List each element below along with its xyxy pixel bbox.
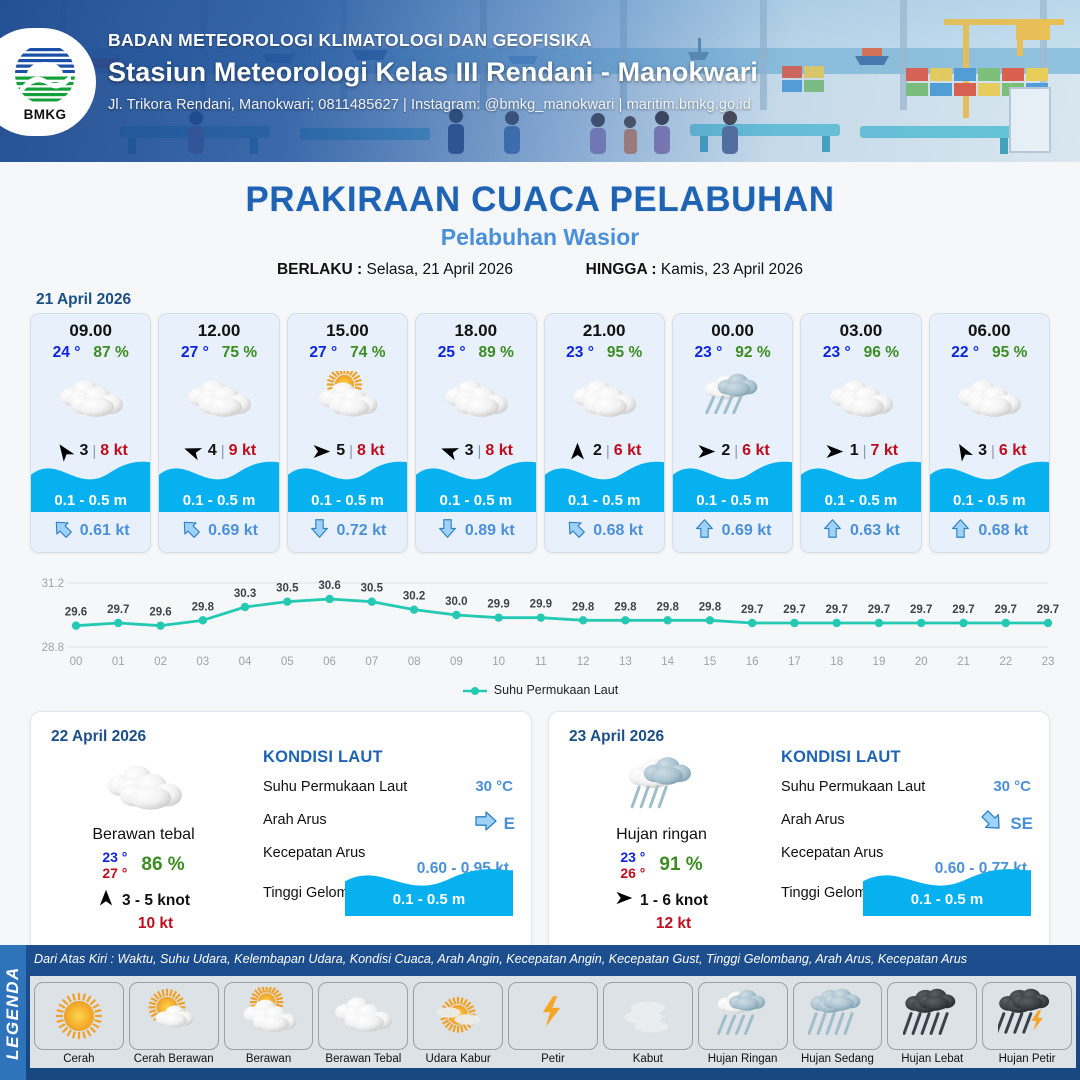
legend-strip-label: LEGENDA — [3, 966, 23, 1060]
card-humidity: 75 % — [222, 344, 257, 362]
legend-item-label: Hujan Petir — [982, 1053, 1072, 1065]
berawan-tebal-icon — [31, 366, 150, 428]
svg-text:19: 19 — [873, 656, 886, 668]
current-arrow-nw — [565, 518, 586, 544]
page-title: PRAKIRAAN CUACA PELABUHAN — [0, 180, 1080, 220]
legend-item-label: Berawan Tebal — [318, 1053, 408, 1065]
panel-sea-title: KONDISI LAUT — [781, 748, 1035, 767]
panel-sst-value: 30 °C — [475, 778, 513, 795]
current-arrow-n — [950, 518, 971, 544]
berawan-tebal-icon — [416, 366, 535, 428]
svg-text:29.8: 29.8 — [192, 601, 215, 613]
card-wave-height: 0.1 - 0.5 m — [159, 492, 278, 509]
legend-item: Berawan Tebal — [318, 982, 408, 1065]
berawan-tebal-icon — [31, 752, 256, 822]
svg-text:06: 06 — [323, 656, 336, 668]
legend-item: Hujan Sedang — [793, 982, 883, 1065]
card-time: 15.00 — [288, 321, 407, 341]
card-temperature: 23 ° — [823, 344, 851, 362]
panel-gust-speed: 12 kt — [573, 915, 774, 933]
valid-to-label: HINGGA : — [586, 261, 657, 278]
cerah-berawan-icon — [129, 982, 219, 1050]
card-humidity: 74 % — [350, 344, 385, 362]
station-name: Stasiun Meteorologi Kelas III Rendani - … — [108, 57, 758, 88]
panel-wave-graphic: 0.1 - 0.5 m — [345, 860, 513, 916]
svg-text:30.3: 30.3 — [234, 588, 256, 600]
legend-item: Hujan Lebat — [887, 982, 977, 1065]
forecast-card[interactable]: 03.00 23 ° 96 % — [800, 313, 921, 553]
panel-sst-label: Suhu Permukaan Laut — [263, 779, 407, 795]
forecast-cards: 09.00 24 ° 87 % — [0, 313, 1080, 553]
legend-item-label: Hujan Lebat — [887, 1053, 977, 1065]
forecast-card[interactable]: 12.00 27 ° 75 % — [158, 313, 279, 553]
legend-item: Udara Kabur — [413, 982, 503, 1065]
svg-text:17: 17 — [788, 656, 801, 668]
hujan-petir-icon — [982, 982, 1072, 1050]
udara-kabur-icon — [413, 982, 503, 1050]
svg-text:29.7: 29.7 — [1037, 604, 1059, 616]
card-humidity: 96 % — [864, 344, 899, 362]
legend-item-label: Cerah — [34, 1053, 124, 1065]
berawan-icon — [224, 982, 314, 1050]
card-temperature: 24 ° — [53, 344, 81, 362]
card-wave-height: 0.1 - 0.5 m — [288, 492, 407, 509]
svg-text:29.7: 29.7 — [952, 604, 974, 616]
bmkg-emblem-icon — [13, 42, 77, 106]
chart-legend: Suhu Permukaan Laut — [0, 683, 1080, 697]
svg-text:29.7: 29.7 — [826, 604, 848, 616]
legend-item: Kabut — [603, 982, 693, 1065]
card-current-speed: 0.72 kt — [337, 522, 387, 540]
card-temperature: 25 ° — [438, 344, 466, 362]
legend-item: Berawan — [224, 982, 314, 1065]
hujan-ringan-icon — [549, 752, 774, 822]
card-wave-height: 0.1 - 0.5 m — [545, 492, 664, 509]
panel-temp-max: 27 ° — [102, 865, 127, 881]
card-humidity: 95 % — [607, 344, 642, 362]
forecast-card[interactable]: 09.00 24 ° 87 % — [30, 313, 151, 553]
panel-temp-min: 23 ° — [102, 849, 127, 865]
bmkg-logo-text: BMKG — [13, 107, 77, 122]
card-wave-height: 0.1 - 0.5 m — [31, 492, 150, 509]
panel-temp-min: 23 ° — [620, 849, 645, 865]
svg-text:29.8: 29.8 — [572, 601, 595, 613]
current-arrow-s — [309, 518, 330, 544]
legend-item: Cerah Berawan — [129, 982, 219, 1065]
svg-text:29.7: 29.7 — [783, 604, 805, 616]
svg-text:08: 08 — [408, 656, 421, 668]
hujan-lebat-icon — [887, 982, 977, 1050]
wind-arrow-n — [97, 889, 115, 912]
svg-text:09: 09 — [450, 656, 463, 668]
legend-item-label: Udara Kabur — [413, 1053, 503, 1065]
card-wave-height: 0.1 - 0.5 m — [801, 492, 920, 509]
legend-strip: LEGENDA — [0, 945, 26, 1080]
current-arrow-n — [822, 518, 843, 544]
card-current-speed: 0.89 kt — [465, 522, 515, 540]
panel-wind-range: 1 - 6 knot — [640, 892, 708, 910]
card-temperature: 22 ° — [951, 344, 979, 362]
legend-item-label: Kabut — [603, 1053, 693, 1065]
legend-item: Cerah — [34, 982, 124, 1065]
panel-gust-speed: 10 kt — [55, 915, 256, 933]
panel-sst-label: Suhu Permukaan Laut — [781, 779, 925, 795]
panel-temp-max: 26 ° — [620, 865, 645, 881]
agency-name: BADAN METEOROLOGI KLIMATOLOGI DAN GEOFIS… — [108, 30, 758, 51]
current-arrow-e — [474, 809, 498, 838]
panel-current-dir-label: Arah Arus — [781, 812, 845, 828]
legend-bar: LEGENDA Dari Atas Kiri : Waktu, Suhu Uda… — [0, 945, 1080, 1080]
card-current-speed: 0.68 kt — [978, 522, 1028, 540]
svg-text:02: 02 — [154, 656, 167, 668]
svg-text:29.7: 29.7 — [910, 604, 932, 616]
valid-from-value: Selasa, 21 April 2026 — [367, 261, 514, 278]
svg-text:29.9: 29.9 — [487, 599, 509, 611]
chart-legend-label: Suhu Permukaan Laut — [494, 683, 618, 697]
svg-text:29.6: 29.6 — [149, 607, 171, 619]
panel-wind-range: 3 - 5 knot — [122, 892, 190, 910]
hujan-sedang-icon — [793, 982, 883, 1050]
svg-text:15: 15 — [704, 656, 717, 668]
station-contact: Jl. Trikora Rendani, Manokwari; 08114856… — [108, 97, 758, 113]
svg-text:07: 07 — [365, 656, 378, 668]
svg-text:13: 13 — [619, 656, 632, 668]
valid-to-value: Kamis, 23 April 2026 — [661, 261, 803, 278]
svg-text:30.2: 30.2 — [403, 591, 425, 603]
current-arrow-nw — [52, 518, 73, 544]
card-wave-height: 0.1 - 0.5 m — [930, 492, 1049, 509]
svg-text:30.5: 30.5 — [276, 583, 299, 595]
card-temperature: 27 ° — [309, 344, 337, 362]
svg-text:29.7: 29.7 — [995, 604, 1017, 616]
svg-text:30.5: 30.5 — [361, 583, 384, 595]
forecast-date-label: 21 April 2026 — [36, 291, 1080, 309]
legend-items: Cerah Cerah Berawan — [30, 976, 1076, 1068]
berawan-tebal-icon — [930, 366, 1049, 428]
svg-text:18: 18 — [830, 656, 843, 668]
svg-text:10: 10 — [492, 656, 505, 668]
svg-text:29.6: 29.6 — [65, 607, 87, 619]
panel-humidity: 86 % — [141, 854, 184, 876]
petir-icon — [508, 982, 598, 1050]
current-arrow-se — [980, 809, 1004, 838]
current-arrow-n — [694, 518, 715, 544]
card-wave-height: 0.1 - 0.5 m — [416, 492, 535, 509]
card-time: 21.00 — [545, 321, 664, 341]
berawan-tebal-icon — [545, 366, 664, 428]
legend-item-label: Hujan Ringan — [698, 1053, 788, 1065]
hujan-ringan-icon — [673, 366, 792, 428]
card-wave-height: 0.1 - 0.5 m — [673, 492, 792, 509]
svg-text:01: 01 — [112, 656, 125, 668]
card-humidity: 89 % — [479, 344, 514, 362]
panel-condition: Berawan tebal — [31, 826, 256, 844]
panel-date: 22 April 2026 — [51, 728, 146, 746]
panel-sea-title: KONDISI LAUT — [263, 748, 517, 767]
panel-current-dir-value: E — [504, 814, 515, 834]
card-time: 00.00 — [673, 321, 792, 341]
svg-text:23: 23 — [1042, 656, 1055, 668]
card-humidity: 95 % — [992, 344, 1027, 362]
svg-text:21: 21 — [957, 656, 970, 668]
svg-text:29.7: 29.7 — [107, 604, 129, 616]
svg-text:11: 11 — [535, 656, 547, 668]
svg-text:16: 16 — [746, 656, 759, 668]
panel-current-dir-label: Arah Arus — [263, 812, 327, 828]
cerah-icon — [34, 982, 124, 1050]
hujan-ringan-icon — [698, 982, 788, 1050]
card-time: 12.00 — [159, 321, 278, 341]
legend-item: Petir — [508, 982, 598, 1065]
forecast-card[interactable]: 15.00 27 ° 74 % — [287, 313, 408, 553]
svg-text:30.6: 30.6 — [318, 580, 340, 592]
berawan-tebal-icon — [801, 366, 920, 428]
card-current-speed: 0.68 kt — [593, 522, 643, 540]
card-time: 03.00 — [801, 321, 920, 341]
card-temperature: 23 ° — [566, 344, 594, 362]
svg-text:04: 04 — [239, 656, 252, 668]
card-temperature: 23 ° — [695, 344, 723, 362]
svg-text:14: 14 — [661, 656, 674, 668]
panel-wave-graphic: 0.1 - 0.5 m — [863, 860, 1031, 916]
svg-text:30.0: 30.0 — [445, 596, 467, 608]
panel-humidity: 91 % — [659, 854, 702, 876]
forecast-card[interactable]: 00.00 23 ° 92 % — [672, 313, 793, 553]
berawan-tebal-icon — [318, 982, 408, 1050]
legend-item-label: Berawan — [224, 1053, 314, 1065]
svg-text:29.9: 29.9 — [530, 599, 552, 611]
legend-item-label: Hujan Sedang — [793, 1053, 883, 1065]
valid-from-label: BERLAKU : — [277, 261, 362, 278]
current-arrow-nw — [180, 518, 201, 544]
berawan-icon — [288, 366, 407, 428]
card-time: 09.00 — [31, 321, 150, 341]
svg-text:20: 20 — [915, 656, 928, 668]
panel-sst-value: 30 °C — [993, 778, 1031, 795]
page-header: BMKG BADAN METEOROLOGI KLIMATOLOGI DAN G… — [0, 0, 1080, 162]
validity-range: BERLAKU : Selasa, 21 April 2026 HINGGA :… — [0, 261, 1080, 279]
chart-legend-marker-icon — [462, 685, 488, 695]
card-current-speed: 0.69 kt — [208, 522, 258, 540]
daily-panels: 22 April 2026 Berawan tebal — [0, 697, 1080, 966]
panel-current-speed-label: Kecepatan Arus — [263, 845, 365, 861]
daily-panel[interactable]: 23 April 2026 Hujan ringan — [548, 711, 1050, 966]
wind-arrow-e — [615, 889, 633, 912]
panel-wave-value: 0.1 - 0.5 m — [345, 891, 513, 908]
svg-text:03: 03 — [196, 656, 209, 668]
current-arrow-s — [437, 518, 458, 544]
port-name: Pelabuhan Wasior — [0, 224, 1080, 251]
panel-condition: Hujan ringan — [549, 826, 774, 844]
card-current-speed: 0.61 kt — [80, 522, 130, 540]
kabut-icon — [603, 982, 693, 1050]
svg-text:31.2: 31.2 — [42, 578, 64, 590]
svg-text:28.8: 28.8 — [42, 642, 64, 654]
sst-chart: 31.228.829.60029.70129.60229.80330.30430… — [18, 569, 1062, 681]
svg-text:29.7: 29.7 — [868, 604, 890, 616]
card-temperature: 27 ° — [181, 344, 209, 362]
panel-current-dir-value: SE — [1010, 814, 1033, 834]
legend-item-label: Cerah Berawan — [129, 1053, 219, 1065]
card-current-speed: 0.69 kt — [722, 522, 772, 540]
panel-date: 23 April 2026 — [569, 728, 664, 746]
panel-wave-value: 0.1 - 0.5 m — [863, 891, 1031, 908]
svg-text:05: 05 — [281, 656, 294, 668]
svg-text:22: 22 — [999, 656, 1012, 668]
svg-text:29.8: 29.8 — [699, 601, 722, 613]
card-humidity: 92 % — [735, 344, 770, 362]
forecast-card[interactable]: 18.00 25 ° 89 % — [415, 313, 536, 553]
svg-text:29.7: 29.7 — [741, 604, 763, 616]
card-humidity: 87 % — [93, 344, 128, 362]
legend-item-label: Petir — [508, 1053, 598, 1065]
card-time: 18.00 — [416, 321, 535, 341]
svg-text:00: 00 — [70, 656, 83, 668]
card-time: 06.00 — [930, 321, 1049, 341]
legend-item: Hujan Petir — [982, 982, 1072, 1065]
title-block: PRAKIRAAN CUACA PELABUHAN Pelabuhan Wasi… — [0, 162, 1080, 279]
legend-note: Dari Atas Kiri : Waktu, Suhu Udara, Kele… — [34, 952, 967, 966]
svg-text:12: 12 — [577, 656, 590, 668]
panel-current-speed-label: Kecepatan Arus — [781, 845, 883, 861]
forecast-card[interactable]: 21.00 23 ° 95 % — [544, 313, 665, 553]
berawan-tebal-icon — [159, 366, 278, 428]
legend-item: Hujan Ringan — [698, 982, 788, 1065]
daily-panel[interactable]: 22 April 2026 Berawan tebal — [30, 711, 532, 966]
card-current-speed: 0.63 kt — [850, 522, 900, 540]
svg-text:29.8: 29.8 — [614, 601, 637, 613]
forecast-card[interactable]: 06.00 22 ° 95 % — [929, 313, 1050, 553]
svg-text:29.8: 29.8 — [656, 601, 679, 613]
